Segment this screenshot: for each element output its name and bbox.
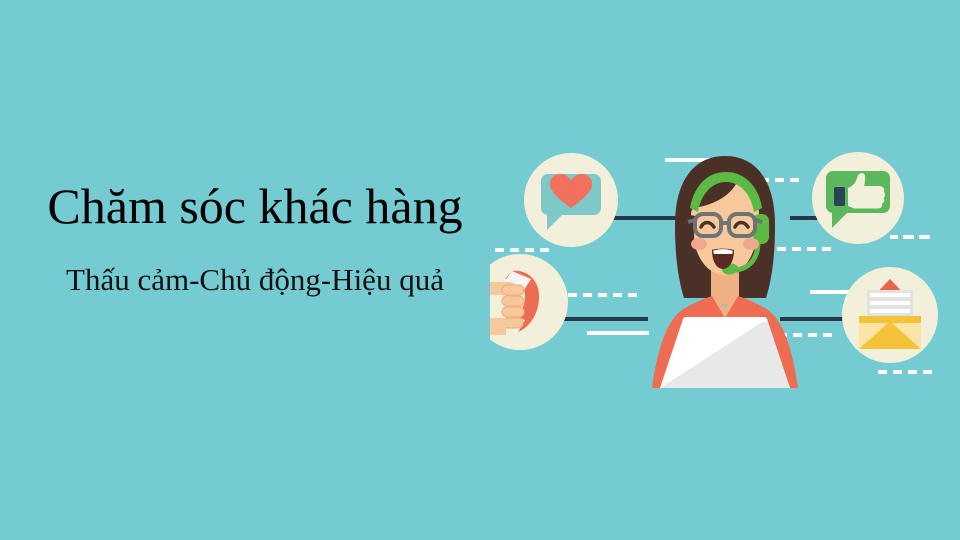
blush-left [691, 238, 707, 250]
badge-heart-icon [524, 153, 618, 247]
badge-phone-handset-icon [490, 254, 568, 350]
customer-service-banner: Chăm sóc khác hàng Thấu cảm-Chủ động-Hiệ… [0, 0, 960, 540]
banner-text-block: Chăm sóc khác hàng Thấu cảm-Chủ động-Hiệ… [0, 180, 510, 297]
blush-right [743, 238, 759, 250]
agent-figure [652, 156, 798, 388]
badge-envelope-icon [842, 267, 938, 363]
customer-service-illustration [490, 130, 960, 420]
banner-headline: Chăm sóc khác hàng [0, 180, 510, 233]
banner-subheadline: Thấu cảm-Chủ động-Hiệu quả [0, 263, 510, 297]
badge-thumbs-up-icon [812, 152, 904, 244]
